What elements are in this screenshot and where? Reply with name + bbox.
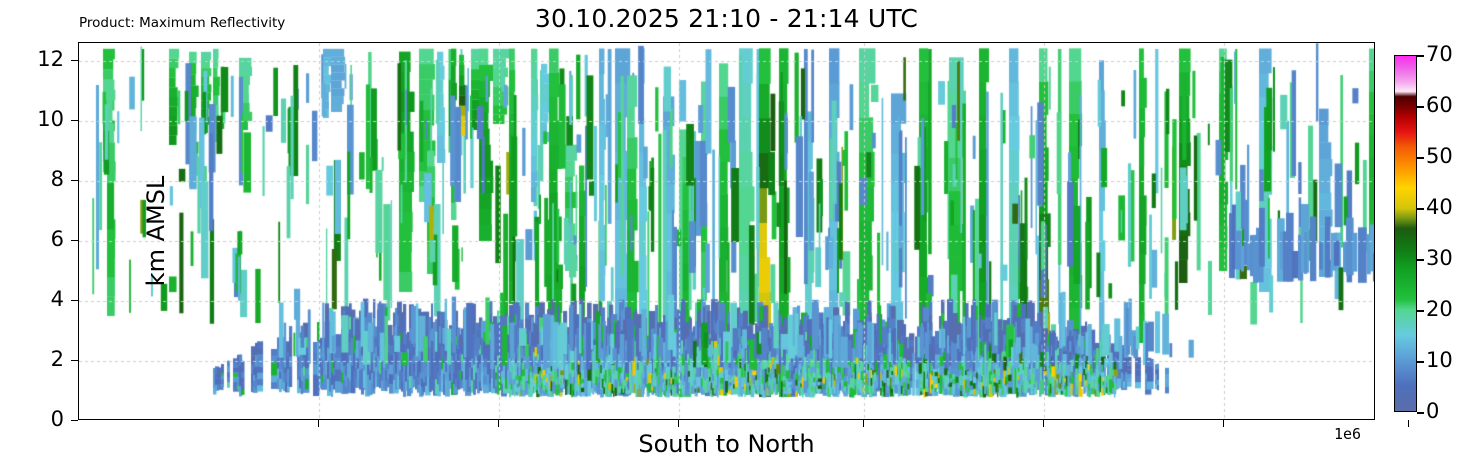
radar-cross-section-figure: 30.10.2025 21:10 - 21:14 UTC Product: Ma… <box>0 0 1482 470</box>
reflectivity-heatmap <box>79 43 1375 420</box>
y-tick-label: 8 <box>4 169 64 190</box>
colorbar-tick-label: 0 <box>1426 401 1439 422</box>
colorbar-tick-mark <box>1417 310 1424 312</box>
x-axis-exponent: 1e6 <box>1334 425 1361 443</box>
colorbar-tick-mark <box>1417 208 1424 210</box>
y-tick-mark <box>71 120 78 121</box>
x-tick-mark <box>1223 420 1224 427</box>
colorbar-gradient <box>1394 55 1417 412</box>
colorbar-tick-label: 10 <box>1426 350 1453 371</box>
colorbar-tick-mark <box>1417 361 1424 363</box>
plot-area <box>78 42 1375 420</box>
colorbar-tick-mark <box>1417 259 1424 261</box>
colorbar-tick-label: 70 <box>1426 44 1453 65</box>
colorbar-tick-label: 40 <box>1426 197 1453 218</box>
x-axis-label: South to North <box>78 430 1375 458</box>
x-tick-mark <box>863 420 864 427</box>
y-tick-mark <box>71 300 78 301</box>
x-tick-mark <box>318 420 319 427</box>
y-tick-label: 4 <box>4 289 64 310</box>
x-tick-mark <box>678 420 679 427</box>
y-axis-label: km AMSL <box>142 81 170 381</box>
y-tick-mark <box>71 60 78 61</box>
colorbar-tick-mark <box>1417 55 1424 57</box>
x-tick-mark <box>1043 420 1044 427</box>
y-tick-label: 12 <box>4 49 64 70</box>
y-tick-label: 2 <box>4 349 64 370</box>
colorbar-tick-mark <box>1417 106 1424 108</box>
y-tick-mark <box>71 180 78 181</box>
y-tick-mark <box>71 420 78 421</box>
colorbar-tick-label: 30 <box>1426 248 1453 269</box>
colorbar-tick-label: 60 <box>1426 95 1453 116</box>
colorbar-tick-mark <box>1417 412 1424 414</box>
y-tick-label: 6 <box>4 229 64 250</box>
colorbar: 010203040506070 <box>1394 55 1417 412</box>
colorbar-tick-mark <box>1417 157 1424 159</box>
y-tick-mark <box>71 240 78 241</box>
x-tick-mark <box>498 420 499 427</box>
y-tick-label: 0 <box>4 409 64 430</box>
colorbar-tick-label: 20 <box>1426 299 1453 320</box>
y-tick-label: 10 <box>4 109 64 130</box>
y-tick-mark <box>71 360 78 361</box>
colorbar-tick-label: 50 <box>1426 146 1453 167</box>
product-label: Product: Maximum Reflectivity <box>79 15 285 31</box>
x-tick-mark <box>1408 420 1409 427</box>
